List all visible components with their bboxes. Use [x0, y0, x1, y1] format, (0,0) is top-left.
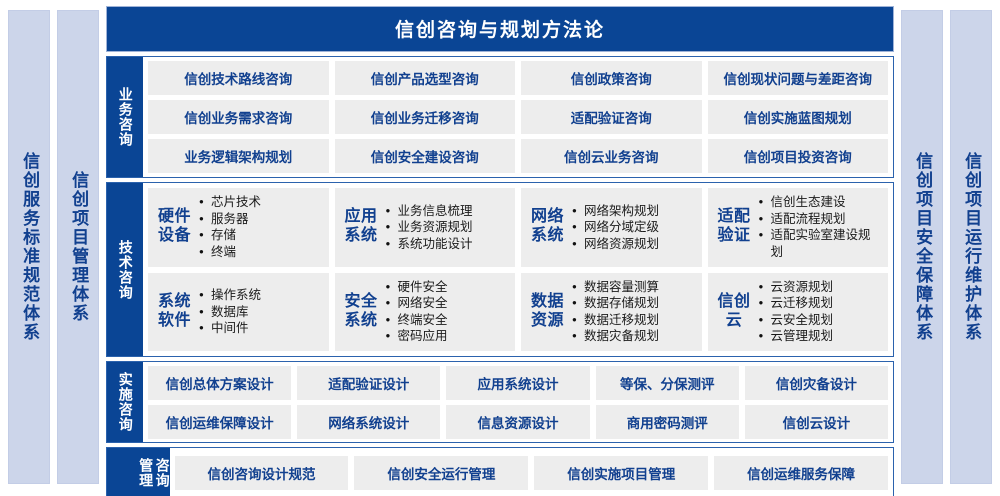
chip-item[interactable]: 适配验证咨询	[521, 100, 702, 134]
card-title: 硬件设备	[158, 208, 191, 246]
band-label-consulting-management: 咨询 管理	[107, 448, 170, 496]
card-title: 系统软件	[158, 293, 191, 331]
card-list-item: 适配流程规划	[759, 211, 882, 228]
pillar-label: 信创项目安全保障体系	[913, 152, 931, 342]
card-list-item: 操作系统	[199, 287, 322, 304]
card-title: 安全系统	[345, 293, 378, 331]
card-row: 系统软件 操作系统数据库中间件 安全系统 硬件安全网络安全终端安全密码应用 数据…	[148, 273, 888, 352]
card-list-item: 终端	[199, 244, 322, 261]
card-list-item: 云安全规划	[759, 312, 882, 329]
card-list-item: 数据灾备规划	[572, 328, 695, 345]
card-list-item: 数据库	[199, 304, 322, 321]
card-list: 云资源规划云迁移规划云安全规划云管理规划	[759, 279, 882, 345]
card-list: 网络架构规划网络分域定级网络资源规划	[572, 203, 695, 253]
card-list-item: 云迁移规划	[759, 295, 882, 312]
card-xinchuang-cloud[interactable]: 信创云 云资源规划云迁移规划云安全规划云管理规划	[708, 273, 889, 352]
card-list-item: 硬件安全	[386, 279, 509, 296]
card-list-item: 网络架构规划	[572, 203, 695, 220]
chip-item[interactable]: 信创灾备设计	[745, 366, 888, 400]
card-hardware-devices[interactable]: 硬件设备 芯片技术服务器存储终端	[148, 188, 329, 267]
card-list-item: 系统功能设计	[386, 236, 509, 253]
band-body-business-consulting: 信创技术路线咨询 信创产品选型咨询 信创政策咨询 信创现状问题与差距咨询 信创业…	[143, 57, 893, 177]
chip-row: 信创总体方案设计 适配验证设计 应用系统设计 等保、分保测评 信创灾备设计	[148, 366, 888, 400]
card-security-system[interactable]: 安全系统 硬件安全网络安全终端安全密码应用	[335, 273, 516, 352]
chip-item[interactable]: 商用密码测评	[596, 405, 739, 439]
card-list-item: 业务资源规划	[386, 219, 509, 236]
band-label-business-consulting: 业务咨询	[107, 57, 143, 177]
chip-row: 信创业务需求咨询 信创业务迁移咨询 适配验证咨询 信创实施蓝图规划	[148, 100, 888, 134]
chip-item[interactable]: 信创现状问题与差距咨询	[708, 61, 889, 95]
chip-item[interactable]: 信创项目投资咨询	[708, 139, 889, 173]
band-label-implementation-consulting: 实施咨询	[107, 362, 143, 442]
card-list-item: 网络资源规划	[572, 236, 695, 253]
chip-item[interactable]: 业务逻辑架构规划	[148, 139, 329, 173]
chip-row: 业务逻辑架构规划 信创安全建设咨询 信创云业务咨询 信创项目投资咨询	[148, 139, 888, 173]
chip-item[interactable]: 信创业务需求咨询	[148, 100, 329, 134]
band-business-consulting: 业务咨询 信创技术路线咨询 信创产品选型咨询 信创政策咨询 信创现状问题与差距咨…	[106, 56, 894, 178]
card-list-item: 存储	[199, 227, 322, 244]
chip-item[interactable]: 适配验证设计	[297, 366, 440, 400]
band-consulting-management: 咨询 管理 信创咨询设计规范 信创安全运行管理 信创实施项目管理 信创运维服务保…	[106, 447, 894, 496]
card-row: 硬件设备 芯片技术服务器存储终端 应用系统 业务信息梳理业务资源规划系统功能设计…	[148, 188, 888, 267]
band-label-text: 业务咨询	[117, 87, 132, 147]
card-list-item: 网络分域定级	[572, 219, 695, 236]
card-list: 信创生态建设适配流程规划适配实验室建设规划	[759, 194, 882, 260]
card-list-item: 云管理规划	[759, 328, 882, 345]
card-list-item: 数据容量测算	[572, 279, 695, 296]
page-title: 信创咨询与规划方法论	[106, 6, 894, 52]
card-list: 业务信息梳理业务资源规划系统功能设计	[386, 203, 509, 253]
card-title: 应用系统	[345, 208, 378, 246]
chip-item[interactable]: 信创安全运行管理	[354, 456, 528, 490]
pillar-service-standard-system: 信创服务标准规范体系	[8, 10, 50, 484]
chip-item[interactable]: 信创云设计	[745, 405, 888, 439]
chip-item[interactable]: 信息资源设计	[446, 405, 589, 439]
chip-item[interactable]: 应用系统设计	[446, 366, 589, 400]
chip-item[interactable]: 信创产品选型咨询	[335, 61, 516, 95]
card-list-item: 数据迁移规划	[572, 312, 695, 329]
pillar-label: 信创服务标准规范体系	[20, 152, 38, 342]
chip-row: 信创技术路线咨询 信创产品选型咨询 信创政策咨询 信创现状问题与差距咨询	[148, 61, 888, 95]
pillar-label: 信创项目运行维护体系	[962, 152, 980, 342]
card-title: 适配验证	[718, 208, 751, 246]
band-technical-consulting: 技术咨询 硬件设备 芯片技术服务器存储终端 应用系统 业务信息梳理业务资源规划系…	[106, 182, 894, 357]
card-list: 数据容量测算数据存储规划数据迁移规划数据灾备规划	[572, 279, 695, 345]
band-label-text: 技术咨询	[117, 240, 132, 300]
chip-item[interactable]: 信创总体方案设计	[148, 366, 291, 400]
chip-item[interactable]: 信创实施项目管理	[534, 456, 708, 490]
chip-item[interactable]: 信创运维服务保障	[714, 456, 888, 490]
chip-item[interactable]: 信创安全建设咨询	[335, 139, 516, 173]
pillar-project-management-system: 信创项目管理体系	[57, 10, 99, 484]
chip-item[interactable]: 信创咨询设计规范	[175, 456, 349, 490]
chip-item[interactable]: 信创技术路线咨询	[148, 61, 329, 95]
band-body-implementation-consulting: 信创总体方案设计 适配验证设计 应用系统设计 等保、分保测评 信创灾备设计 信创…	[143, 362, 893, 442]
pillar-project-ops-system: 信创项目运行维护体系	[950, 10, 992, 484]
band-label-technical-consulting: 技术咨询	[107, 183, 143, 356]
pillar-label: 信创项目管理体系	[69, 171, 87, 323]
card-list-item: 终端安全	[386, 312, 509, 329]
card-list: 硬件安全网络安全终端安全密码应用	[386, 279, 509, 345]
band-body-technical-consulting: 硬件设备 芯片技术服务器存储终端 应用系统 业务信息梳理业务资源规划系统功能设计…	[143, 183, 893, 356]
chip-item[interactable]: 信创业务迁移咨询	[335, 100, 516, 134]
chip-row: 信创咨询设计规范 信创安全运行管理 信创实施项目管理 信创运维服务保障	[175, 456, 888, 490]
card-title: 信创云	[718, 293, 751, 331]
pillar-project-security-system: 信创项目安全保障体系	[901, 10, 943, 484]
card-data-resource[interactable]: 数据资源 数据容量测算数据存储规划数据迁移规划数据灾备规划	[521, 273, 702, 352]
chip-item[interactable]: 信创政策咨询	[521, 61, 702, 95]
card-list-item: 中间件	[199, 320, 322, 337]
card-list-item: 芯片技术	[199, 194, 322, 211]
band-label-text-col1: 咨询	[154, 458, 169, 488]
card-title: 数据资源	[531, 293, 564, 331]
card-application-system[interactable]: 应用系统 业务信息梳理业务资源规划系统功能设计	[335, 188, 516, 267]
card-list-item: 密码应用	[386, 328, 509, 345]
chip-item[interactable]: 信创运维保障设计	[148, 405, 291, 439]
band-label-text: 实施咨询	[117, 372, 132, 432]
card-list-item: 服务器	[199, 211, 322, 228]
card-list-item: 云资源规划	[759, 279, 882, 296]
card-list-item: 数据存储规划	[572, 295, 695, 312]
card-list: 操作系统数据库中间件	[199, 287, 322, 337]
diagram-root: 信创服务标准规范体系 信创项目管理体系 信创咨询与规划方法论 业务咨询 信创技术…	[0, 0, 1000, 496]
chip-item[interactable]: 等保、分保测评	[596, 366, 739, 400]
band-implementation-consulting: 实施咨询 信创总体方案设计 适配验证设计 应用系统设计 等保、分保测评 信创灾备…	[106, 361, 894, 443]
card-list-item: 业务信息梳理	[386, 203, 509, 220]
card-list: 芯片技术服务器存储终端	[199, 194, 322, 260]
card-list-item: 适配实验室建设规划	[759, 227, 882, 260]
chip-item[interactable]: 信创云业务咨询	[521, 139, 702, 173]
band-label-pair: 咨询 管理	[107, 458, 170, 488]
card-adaptation-verification[interactable]: 适配验证 信创生态建设适配流程规划适配实验室建设规划	[708, 188, 889, 267]
chip-row: 信创运维保障设计 网络系统设计 信息资源设计 商用密码测评 信创云设计	[148, 405, 888, 439]
band-label-text-col2: 管理	[138, 458, 153, 488]
chip-item[interactable]: 网络系统设计	[297, 405, 440, 439]
card-system-software[interactable]: 系统软件 操作系统数据库中间件	[148, 273, 329, 352]
main-column: 信创咨询与规划方法论 业务咨询 信创技术路线咨询 信创产品选型咨询 信创政策咨询…	[106, 6, 894, 488]
card-list-item: 信创生态建设	[759, 194, 882, 211]
card-network-system[interactable]: 网络系统 网络架构规划网络分域定级网络资源规划	[521, 188, 702, 267]
card-list-item: 网络安全	[386, 295, 509, 312]
card-title: 网络系统	[531, 208, 564, 246]
band-body-consulting-management: 信创咨询设计规范 信创安全运行管理 信创实施项目管理 信创运维服务保障	[170, 448, 893, 496]
chip-item[interactable]: 信创实施蓝图规划	[708, 100, 889, 134]
